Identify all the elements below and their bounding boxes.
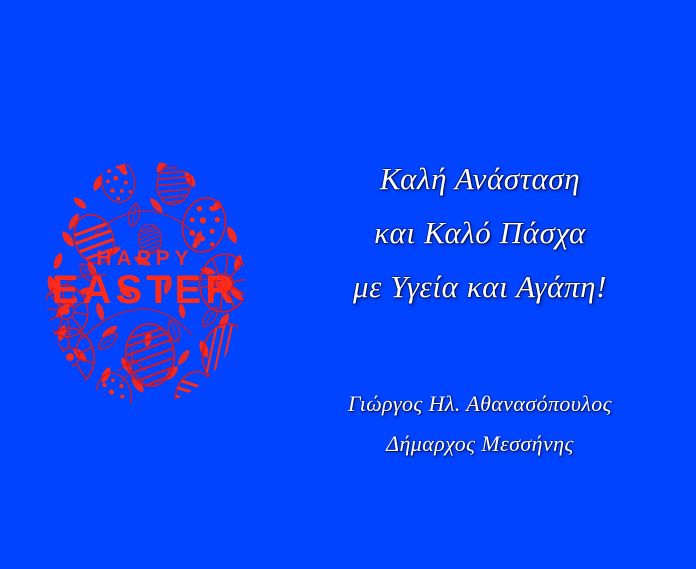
easter-egg-illustration: HAPPY EASTER [22,143,268,405]
signer-name: Γιώργος Ηλ. Αθανασόπουλος [278,384,682,424]
decorated-egg [98,157,139,206]
egg-inner-wordmark: HAPPY EASTER [52,247,238,312]
decorated-egg [92,369,136,405]
easter-greeting-card: HAPPY EASTER Καλή Ανάσταση και Καλό Πάσχ… [0,0,696,569]
decorated-egg [169,367,218,405]
easter-text: EASTER [52,268,238,312]
greeting-line-3: με Υγεία και Αγάπη! [278,260,682,314]
egg-collage-group: HAPPY EASTER [40,156,255,405]
happy-text: HAPPY [96,247,193,270]
signer-title: Δήμαρχος Μεσσήνης [278,424,682,464]
easter-egg-artwork: HAPPY EASTER [22,143,268,405]
greeting-text-block: Καλή Ανάσταση και Καλό Πάσχα με Υγεία κα… [278,152,682,314]
greeting-line-1: Καλή Ανάσταση [278,152,682,206]
signature-block: Γιώργος Ηλ. Αθανασόπουλος Δήμαρχος Μεσσή… [278,384,682,464]
greeting-line-2: και Καλό Πάσχα [278,206,682,260]
